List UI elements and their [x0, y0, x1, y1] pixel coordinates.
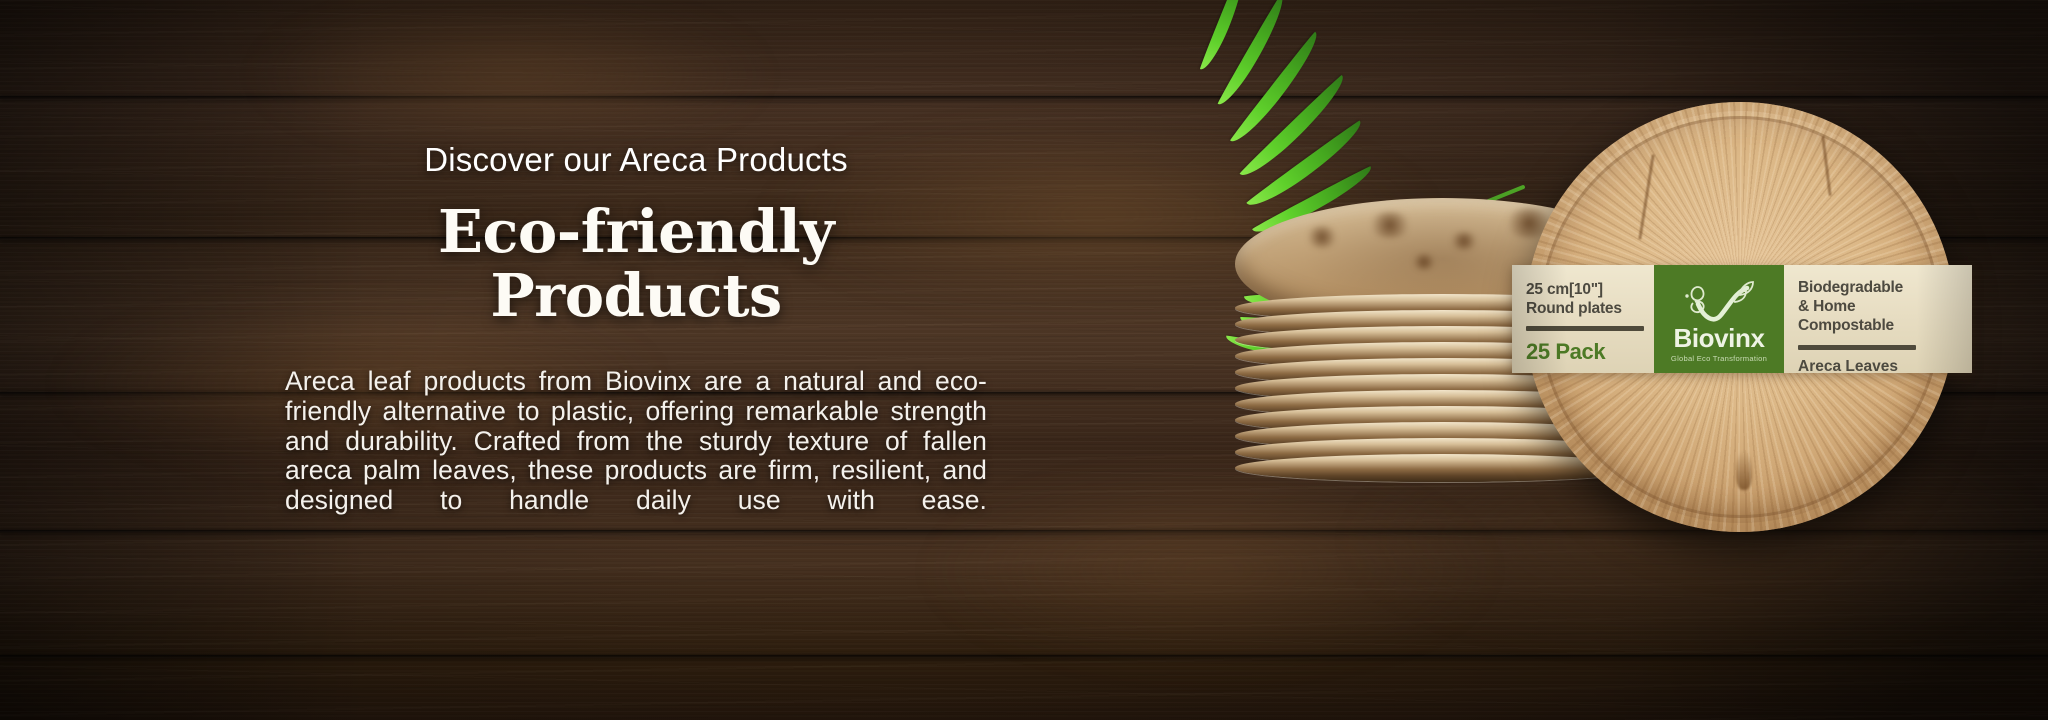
- body-paragraph: Areca leaf products from Biovinx are a n…: [285, 367, 987, 545]
- label-divider-rule: [1526, 326, 1644, 331]
- label-divider-rule: [1798, 345, 1916, 350]
- plate-size-line-2: Round plates: [1526, 300, 1654, 319]
- copy-block: Discover our Areca Products Eco-friendly…: [285, 142, 987, 572]
- claim-line-1: Biodegradable: [1798, 279, 1972, 298]
- plate-size-line-1: 25 cm[10"]: [1526, 281, 1654, 300]
- material-text: Areca Leaves: [1798, 358, 1972, 376]
- leaf-blotch: [1305, 226, 1339, 248]
- plate-center-notch: [1736, 450, 1752, 490]
- product-label-band: 25 cm[10"] Round plates 25 Pack Bi: [1512, 265, 1972, 373]
- product-imagery: 25 cm[10"] Round plates 25 Pack Bi: [1240, 80, 2000, 640]
- eco-products-banner: Discover our Areca Products Eco-friendly…: [0, 0, 2048, 720]
- leaf-blotch: [1367, 212, 1413, 238]
- pack-count-badge: 25 Pack: [1526, 339, 1654, 365]
- page-title: Eco-friendly Products: [285, 200, 987, 327]
- leaf-blotch: [1411, 254, 1437, 270]
- eyebrow-text: Discover our Areca Products: [285, 142, 987, 178]
- label-size-section: 25 cm[10"] Round plates 25 Pack: [1512, 265, 1654, 373]
- label-claims-section: Biodegradable & Home Compostable Areca L…: [1784, 265, 1972, 373]
- leaf-blotch: [1449, 232, 1479, 250]
- claim-line-2: & Home: [1798, 298, 1972, 317]
- biovinx-leaf-swoosh-logo-icon: [1676, 277, 1762, 329]
- brand-tagline: Global Eco Transformation: [1671, 354, 1767, 363]
- claim-line-3: Compostable: [1798, 317, 1972, 336]
- label-brand-section: Biovinx Global Eco Transformation: [1654, 265, 1784, 373]
